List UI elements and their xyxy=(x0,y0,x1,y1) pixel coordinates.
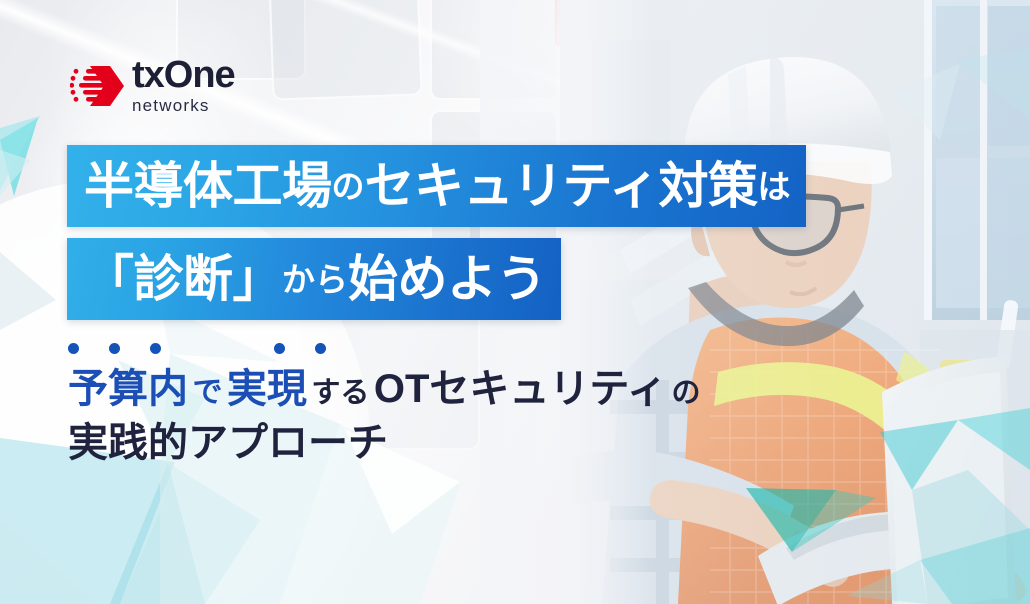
subtitle-line2-text: 実践的アプローチ xyxy=(68,421,388,465)
logo-wordmark: txOne xyxy=(132,56,235,94)
headline-line1-particle: の xyxy=(332,170,365,203)
headline-band-line1: 半導体工場 の セキュリティ対策 は xyxy=(67,145,806,227)
headline-line2-bracket-close: 」 xyxy=(233,254,283,304)
headline-line2-main: 始めよう xyxy=(348,254,546,304)
txone-arrow-logo-icon xyxy=(70,62,126,110)
subtitle-particle-3: の xyxy=(671,377,700,409)
headline-line1-main2: セキュリティ対策 xyxy=(365,161,758,211)
headline-line2-particle: から xyxy=(282,263,348,296)
subtitle-line-1: 予算内 で 実現 する OTセキュリティ の xyxy=(68,363,700,417)
txone-logo[interactable]: txOne networks xyxy=(70,58,245,114)
banner-hero: txOne networks 半導体工場 の セキュリティ対策 は 「 診断 」… xyxy=(0,0,1030,604)
subtitle: 予算内 で 実現 する OTセキュリティ の 実践的アプローチ xyxy=(68,363,700,471)
subtitle-particle-2: する xyxy=(311,377,369,409)
headline-line2-bracket-open: 「 xyxy=(84,254,134,304)
headline-band-line2: 「 診断 」 から 始めよう xyxy=(67,238,561,320)
headline-line1-main: 半導体工場 xyxy=(84,161,332,211)
subtitle-line-2: 実践的アプローチ xyxy=(68,417,700,471)
subtitle-rest: OTセキュリティ xyxy=(374,367,667,411)
subtitle-emphasized-2: 実現 xyxy=(227,367,307,411)
subtitle-emphasized-1: 予算内 xyxy=(68,367,188,411)
emphasis-dots xyxy=(68,343,326,354)
headline-line1-particle2: は xyxy=(758,170,791,203)
subtitle-particle-1: で xyxy=(192,376,222,409)
logo-tagline: networks xyxy=(132,97,235,114)
headline-line2-keyword: 診断 xyxy=(134,254,233,304)
